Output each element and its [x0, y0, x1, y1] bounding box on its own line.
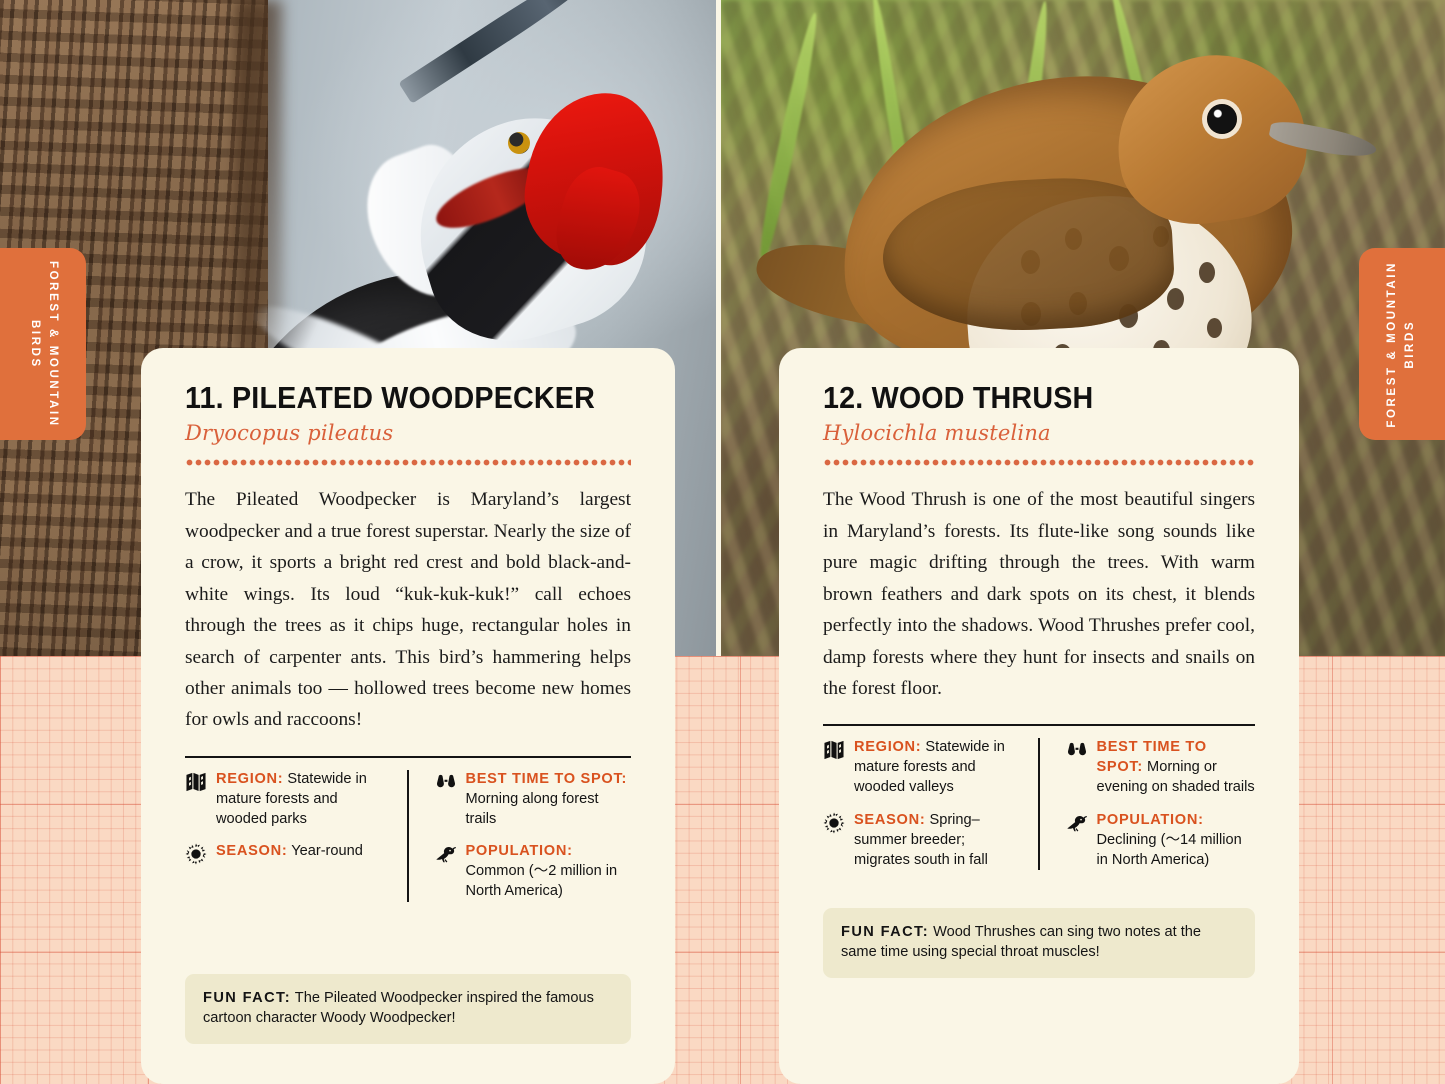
fact-label: POPULATION: [1097, 812, 1204, 828]
fact-season: SEASON: Year-round [185, 842, 388, 865]
season-sun-icon [823, 812, 845, 834]
fact-population: POPULATION: Common (～2 million in North … [435, 842, 632, 902]
fact-value: Common (～2 million in North America) [466, 863, 618, 899]
fact-value: Morning along forest trails [466, 791, 599, 827]
fact-value: Declining (～14 million in North America) [1097, 832, 1242, 868]
fact-region: REGION: Statewide in mature forests and … [185, 770, 388, 830]
binoculars-icon [435, 771, 457, 793]
facts-grid: REGION: Statewide in mature forests and … [823, 726, 1255, 870]
species-scientific-name: Dryocopus pileatus [185, 421, 631, 445]
fact-text: POPULATION: Common (～2 million in North … [466, 842, 632, 902]
fun-fact-box: FUN FACT: The Pileated Woodpecker inspir… [185, 974, 631, 1044]
species-scientific-name: Hylocichla mustelina [823, 421, 1255, 445]
facts-grid: REGION: Statewide in mature forests and … [185, 758, 631, 902]
species-description: The Pileated Woodpecker is Maryland’s la… [185, 484, 631, 736]
fact-text: SEASON: Year-round [216, 842, 363, 862]
section-tab-right: FOREST & MOUNTAIN BIRDS [1359, 248, 1445, 440]
section-tab-left: FOREST & MOUNTAIN BIRDS [0, 248, 86, 440]
fact-text: BEST TIME TO SPOT: Morning or evening on… [1097, 738, 1256, 798]
fun-fact-label: FUN FACT: [841, 924, 929, 940]
fact-text: SEASON: Spring–summer breeder; migrates … [854, 811, 1019, 871]
fact-best-time: BEST TIME TO SPOT: Morning or evening on… [1066, 738, 1256, 798]
fact-label: SEASON: [854, 812, 925, 828]
fact-text: REGION: Statewide in mature forests and … [854, 738, 1019, 798]
season-sun-icon [185, 843, 207, 865]
fact-label: POPULATION: [466, 843, 573, 859]
fact-best-time: BEST TIME TO SPOT: Morning along forest … [435, 770, 632, 830]
species-card-wood-thrush: 12. WOOD THRUSH Hylocichla mustelina The… [779, 348, 1299, 1084]
fact-label: REGION: [854, 739, 921, 755]
species-card-pileated-woodpecker: 11. PILEATED WOODPECKER Dryocopus pileat… [141, 348, 675, 1084]
fact-label: REGION: [216, 771, 283, 787]
decorative-divider [185, 458, 631, 467]
species-description: The Wood Thrush is one of the most beaut… [823, 484, 1255, 704]
decorative-divider [823, 458, 1255, 467]
facts-column-left: REGION: Statewide in mature forests and … [185, 770, 408, 902]
facts-column-right: BEST TIME TO SPOT: Morning or evening on… [1040, 738, 1256, 870]
fact-label: SEASON: [216, 843, 287, 859]
binoculars-icon [1066, 739, 1088, 761]
fun-fact-label: FUN FACT: [203, 990, 291, 1006]
fact-text: POPULATION: Declining (～14 million in No… [1097, 811, 1256, 871]
bird-icon [435, 843, 457, 865]
fact-region: REGION: Statewide in mature forests and … [823, 738, 1019, 798]
facts-column-left: REGION: Statewide in mature forests and … [823, 738, 1039, 870]
species-title: 11. PILEATED WOODPECKER [185, 382, 604, 414]
thrush-eye [1207, 104, 1237, 134]
fun-fact-box: FUN FACT: Wood Thrushes can sing two not… [823, 908, 1255, 978]
bird-icon [1066, 812, 1088, 834]
map-icon [823, 739, 845, 761]
map-icon [185, 771, 207, 793]
section-tab-label: FOREST & MOUNTAIN BIRDS [1384, 261, 1420, 428]
field-guide-page: FOREST & MOUNTAIN BIRDS FOREST & MOUNTAI… [0, 0, 1445, 1084]
fact-value: Year-round [291, 843, 363, 859]
species-title: 12. WOOD THRUSH [823, 382, 1229, 414]
fact-text: REGION: Statewide in mature forests and … [216, 770, 388, 830]
fact-season: SEASON: Spring–summer breeder; migrates … [823, 811, 1019, 871]
section-tab-label: FOREST & MOUNTAIN BIRDS [25, 261, 61, 428]
woodpecker-eye [508, 132, 530, 154]
facts-column-right: BEST TIME TO SPOT: Morning along forest … [409, 770, 632, 902]
fact-text: BEST TIME TO SPOT: Morning along forest … [466, 770, 632, 830]
fact-label: BEST TIME TO SPOT: [466, 771, 628, 787]
fact-population: POPULATION: Declining (～14 million in No… [1066, 811, 1256, 871]
